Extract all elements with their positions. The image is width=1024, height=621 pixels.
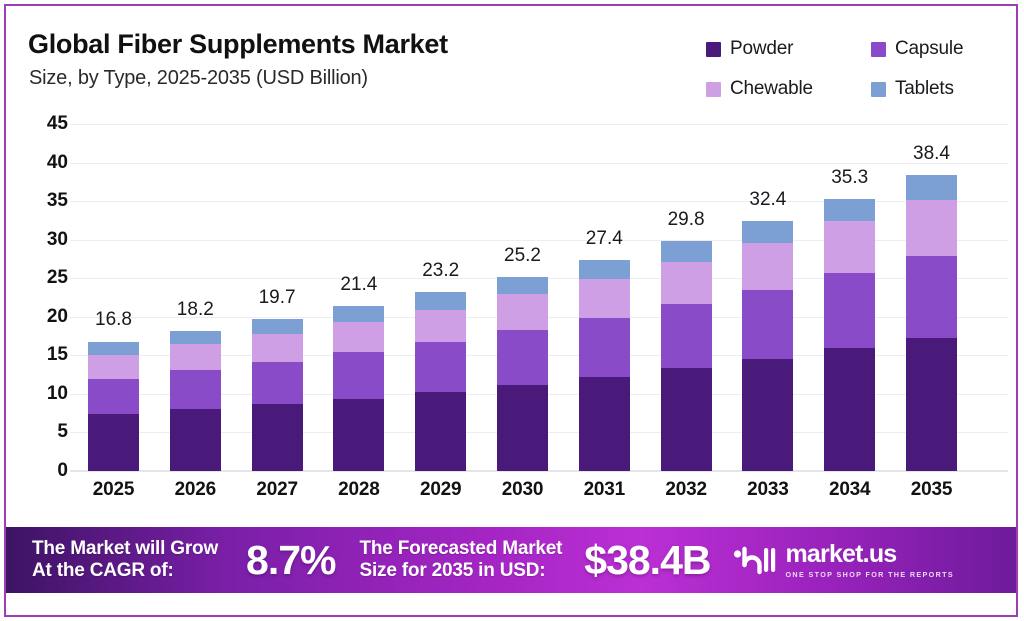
bar-stack[interactable] [415, 292, 466, 471]
bar-segment-tablets[interactable] [824, 199, 875, 221]
bar-segment-powder[interactable] [88, 414, 139, 471]
bar-segment-chewable[interactable] [415, 310, 466, 342]
y-axis-tick: 40 [6, 152, 68, 174]
bar-total-label: 38.4 [913, 143, 950, 165]
y-axis-tick: 25 [6, 267, 68, 289]
bar-segment-tablets[interactable] [252, 319, 303, 334]
bar-total-label: 23.2 [422, 260, 459, 282]
y-axis-tick: 30 [6, 229, 68, 251]
legend-row-2: Chewable Tablets [706, 78, 1006, 100]
bar-series-container: 16.818.219.721.423.225.227.429.832.435.3… [70, 124, 1008, 471]
x-axis-tick: 2035 [906, 479, 957, 501]
market-us-mark-icon [730, 545, 776, 575]
bar-segment-powder[interactable] [661, 368, 712, 471]
bar-total-label: 21.4 [340, 274, 377, 296]
footer-banner: The Market will Grow At the CAGR of: 8.7… [6, 527, 1016, 593]
bar-segment-chewable[interactable] [742, 243, 793, 290]
chart-subtitle: Size, by Type, 2025-2035 (USD Billion) [29, 67, 368, 90]
bar-stack[interactable] [742, 221, 793, 471]
x-axis-tick: 2028 [333, 479, 384, 501]
legend-swatch-capsule [871, 42, 886, 57]
bar-segment-chewable[interactable] [906, 200, 957, 256]
bar-segment-chewable[interactable] [88, 355, 139, 380]
y-axis-tick: 15 [6, 344, 68, 366]
bar-segment-tablets[interactable] [661, 241, 712, 262]
forecast-caption-line2: Size for 2035 in USD: [360, 560, 563, 582]
bar-total-label: 19.7 [259, 287, 296, 309]
bar-segment-chewable[interactable] [252, 334, 303, 362]
bar-stack[interactable] [824, 199, 875, 471]
y-axis-tick: 45 [6, 113, 68, 135]
chart-plot-area: 051015202530354045 16.818.219.721.423.22… [6, 124, 1016, 524]
bar-total-label: 16.8 [95, 309, 132, 331]
bar-stack[interactable] [579, 260, 630, 471]
bar-stack[interactable] [661, 241, 712, 471]
cagr-value: 8.7% [246, 537, 335, 584]
legend-row-1: Powder Capsule [706, 38, 1006, 60]
bar-segment-tablets[interactable] [742, 221, 793, 243]
cagr-caption-line1: The Market will Grow [32, 538, 218, 560]
bar-segment-chewable[interactable] [497, 294, 548, 329]
legend-swatch-tablets [871, 82, 886, 97]
bar-segment-chewable[interactable] [824, 221, 875, 273]
chart-legend: Powder Capsule Chewable Tablets [706, 38, 1006, 118]
bar-segment-powder[interactable] [906, 338, 957, 471]
y-axis-tick: 20 [6, 306, 68, 328]
legend-swatch-chewable [706, 82, 721, 97]
bar-segment-capsule[interactable] [742, 290, 793, 359]
bar-segment-tablets[interactable] [170, 331, 221, 344]
bar-segment-capsule[interactable] [252, 362, 303, 404]
x-axis-tick: 2030 [497, 479, 548, 501]
chart-header: Global Fiber Supplements Market Size, by… [6, 6, 1016, 124]
bar-total-label: 35.3 [831, 167, 868, 189]
legend-swatch-powder [706, 42, 721, 57]
y-axis-tick: 0 [6, 460, 68, 482]
y-axis-tick: 10 [6, 383, 68, 405]
legend-label-tablets: Tablets [895, 78, 954, 100]
bar-segment-tablets[interactable] [497, 277, 548, 295]
infographic-card: Global Fiber Supplements Market Size, by… [4, 4, 1018, 617]
bar-segment-tablets[interactable] [333, 306, 384, 322]
bar-segment-powder[interactable] [824, 348, 875, 471]
legend-item-capsule[interactable]: Capsule [871, 38, 963, 60]
bar-segment-tablets[interactable] [906, 175, 957, 200]
cagr-caption: The Market will Grow At the CAGR of: [32, 538, 218, 582]
bar-segment-chewable[interactable] [579, 279, 630, 318]
bar-total-label: 27.4 [586, 228, 623, 250]
cagr-caption-line2: At the CAGR of: [32, 560, 218, 582]
forecast-caption-line1: The Forecasted Market [360, 538, 563, 560]
y-axis-labels: 051015202530354045 [6, 124, 68, 472]
legend-label-capsule: Capsule [895, 38, 963, 60]
legend-label-powder: Powder [730, 38, 793, 60]
bar-stack[interactable] [906, 175, 957, 471]
bar-stack[interactable] [88, 342, 139, 472]
forecast-value: $38.4B [584, 537, 710, 584]
bar-segment-capsule[interactable] [333, 352, 384, 398]
x-axis-labels: 2025202620272028202920302031203220332034… [70, 479, 1008, 509]
x-axis-tick: 2026 [170, 479, 221, 501]
bar-segment-chewable[interactable] [170, 344, 221, 370]
bar-segment-chewable[interactable] [333, 322, 384, 352]
bar-stack[interactable] [252, 319, 303, 471]
bar-segment-powder[interactable] [742, 359, 793, 471]
bar-segment-powder[interactable] [579, 377, 630, 471]
y-axis-tick: 35 [6, 190, 68, 212]
legend-item-chewable[interactable]: Chewable [706, 78, 871, 100]
y-axis-tick: 5 [6, 421, 68, 443]
bar-segment-tablets[interactable] [579, 260, 630, 279]
x-axis-tick: 2033 [742, 479, 793, 501]
bar-segment-powder[interactable] [415, 392, 466, 471]
market-us-logo[interactable]: market.us ONE STOP SHOP FOR THE REPORTS [730, 542, 954, 578]
logo-name: market.us [785, 542, 954, 567]
bar-total-label: 25.2 [504, 245, 541, 267]
bar-segment-capsule[interactable] [497, 330, 548, 386]
x-axis-tick: 2025 [88, 479, 139, 501]
bar-total-label: 18.2 [177, 299, 214, 321]
forecast-caption: The Forecasted Market Size for 2035 in U… [360, 538, 563, 582]
bar-segment-chewable[interactable] [661, 262, 712, 304]
bar-segment-powder[interactable] [170, 409, 221, 471]
legend-item-tablets[interactable]: Tablets [871, 78, 954, 100]
bar-stack[interactable] [333, 306, 384, 471]
bar-segment-powder[interactable] [333, 399, 384, 471]
bar-segment-tablets[interactable] [88, 342, 139, 355]
bar-total-label: 29.8 [668, 209, 705, 231]
bar-stack[interactable] [170, 331, 221, 471]
bar-segment-capsule[interactable] [579, 318, 630, 377]
bar-stack[interactable] [497, 277, 548, 471]
bar-segment-powder[interactable] [252, 404, 303, 471]
bar-total-label: 32.4 [749, 189, 786, 211]
page-title: Global Fiber Supplements Market [28, 29, 448, 60]
x-axis-tick: 2032 [661, 479, 712, 501]
logo-tagline: ONE STOP SHOP FOR THE REPORTS [785, 571, 954, 578]
x-axis-tick: 2029 [415, 479, 466, 501]
x-axis-tick: 2027 [252, 479, 303, 501]
x-axis-tick: 2034 [824, 479, 875, 501]
bar-segment-capsule[interactable] [906, 256, 957, 338]
bar-segment-capsule[interactable] [170, 370, 221, 409]
x-axis-tick: 2031 [579, 479, 630, 501]
bar-segment-capsule[interactable] [88, 379, 139, 414]
market-us-wordmark: market.us ONE STOP SHOP FOR THE REPORTS [785, 542, 954, 578]
legend-item-powder[interactable]: Powder [706, 38, 871, 60]
legend-label-chewable: Chewable [730, 78, 813, 100]
bar-segment-capsule[interactable] [661, 304, 712, 368]
bar-segment-capsule[interactable] [824, 273, 875, 349]
bar-segment-capsule[interactable] [415, 342, 466, 392]
bar-segment-tablets[interactable] [415, 292, 466, 310]
bar-segment-powder[interactable] [497, 385, 548, 471]
